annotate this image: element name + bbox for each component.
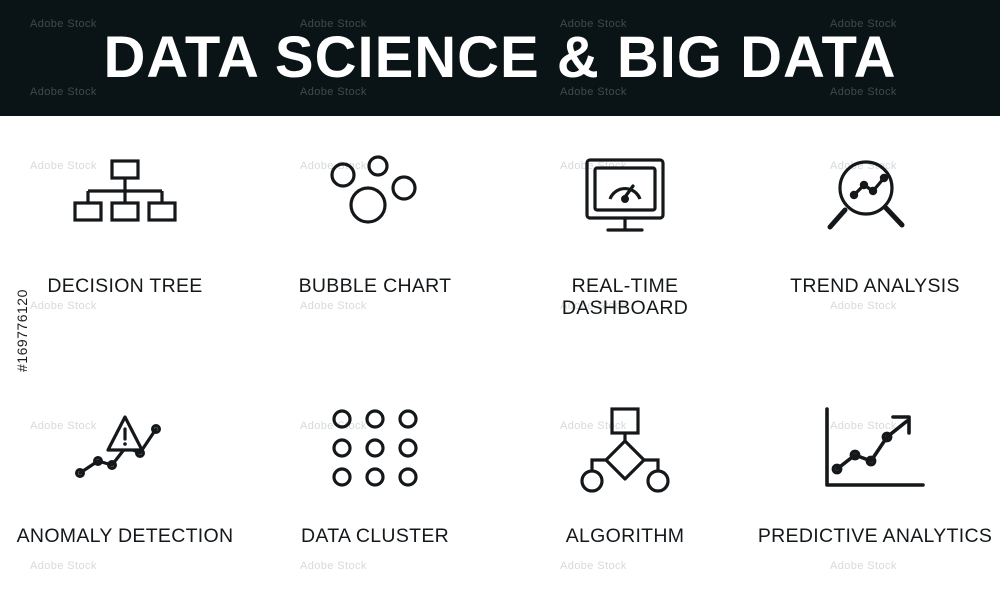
- icon-cell-decision-tree[interactable]: DECISION TREE: [0, 116, 250, 366]
- icon-cell-trend-analysis[interactable]: TREND ANALYSIS: [750, 116, 1000, 366]
- icon-label: PREDICTIVE ANALYTICS: [750, 526, 1000, 548]
- header-banner: DATA SCIENCE & BIG DATA: [0, 0, 1000, 116]
- page-title: DATA SCIENCE & BIG DATA: [103, 29, 896, 87]
- icon-label: ALGORITHM: [500, 526, 750, 548]
- poster-canvas: DATA SCIENCE & BIG DATA Adobe Stock Adob…: [0, 0, 1000, 616]
- line-warning-icon: [68, 388, 183, 518]
- flowchart-icon: [570, 388, 680, 518]
- icon-cell-anomaly-detection[interactable]: ANOMALY DETECTION: [0, 366, 250, 616]
- bubbles-icon: [320, 138, 430, 268]
- icon-row: DECISION TREE BUBBLE CHART: [0, 116, 1000, 366]
- icon-label: BUBBLE CHART: [250, 276, 500, 298]
- hierarchy-boxes-icon: [70, 138, 180, 268]
- icon-cell-bubble-chart[interactable]: BUBBLE CHART: [250, 116, 500, 366]
- icon-label: DATA CLUSTER: [250, 526, 500, 548]
- icon-cell-real-time-dashboard[interactable]: REAL-TIME DASHBOARD: [500, 116, 750, 366]
- icon-grid: DECISION TREE BUBBLE CHART: [0, 116, 1000, 616]
- icon-cell-predictive-analytics[interactable]: PREDICTIVE ANALYTICS: [750, 366, 1000, 616]
- monitor-gauge-icon: [570, 138, 680, 268]
- icon-row: ANOMALY DETECTION DATA CLUSTER: [0, 366, 1000, 616]
- circle-grid-icon: [320, 388, 430, 518]
- icon-cell-data-cluster[interactable]: DATA CLUSTER: [250, 366, 500, 616]
- icon-label: DECISION TREE: [0, 276, 250, 298]
- icon-cell-algorithm[interactable]: ALGORITHM: [500, 366, 750, 616]
- icon-label: TREND ANALYSIS: [750, 276, 1000, 298]
- icon-label: ANOMALY DETECTION: [0, 526, 250, 548]
- magnifier-chart-icon: [818, 138, 933, 268]
- axes-arrow-chart-icon: [815, 388, 935, 518]
- icon-label: REAL-TIME DASHBOARD: [500, 276, 750, 320]
